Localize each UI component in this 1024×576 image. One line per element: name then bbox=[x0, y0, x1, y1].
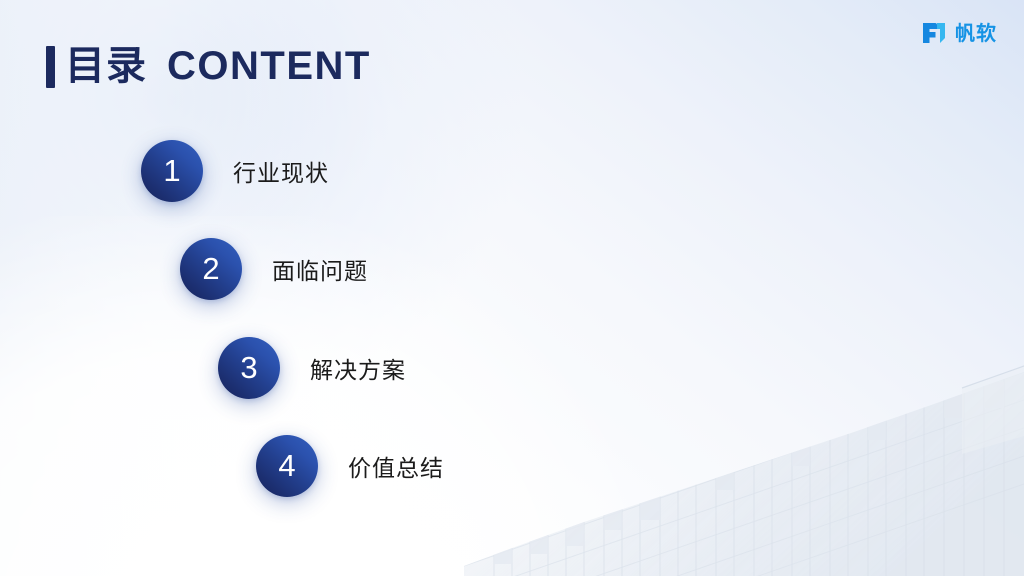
brand-logo: 帆软 bbox=[921, 20, 997, 46]
toc-number-badge: 2 bbox=[180, 238, 242, 300]
toc-number-badge: 1 bbox=[141, 140, 203, 202]
title-english: CONTENT bbox=[167, 46, 371, 86]
slide-canvas: 目录 CONTENT 帆软 1 行业现状 2 面临问题 3 解决方案 4 bbox=[0, 0, 1024, 576]
brand-name: 帆软 bbox=[955, 23, 997, 43]
fanruan-f-logo-icon bbox=[921, 20, 947, 46]
toc-number: 2 bbox=[202, 253, 219, 284]
toc-item-1[interactable]: 1 行业现状 bbox=[141, 140, 329, 202]
toc-item-4[interactable]: 4 价值总结 bbox=[256, 435, 444, 497]
toc-number: 4 bbox=[278, 450, 295, 481]
toc-label: 行业现状 bbox=[233, 154, 329, 188]
title-chinese: 目录 bbox=[65, 46, 147, 86]
toc-label: 面临问题 bbox=[272, 252, 368, 286]
toc-number: 1 bbox=[163, 155, 180, 186]
toc-item-3[interactable]: 3 解决方案 bbox=[218, 337, 406, 399]
toc-number-badge: 3 bbox=[218, 337, 280, 399]
title-accent-bar bbox=[46, 46, 55, 88]
page-title: 目录 CONTENT bbox=[46, 38, 371, 94]
toc-number: 3 bbox=[240, 352, 257, 383]
toc-item-2[interactable]: 2 面临问题 bbox=[180, 238, 368, 300]
toc-number-badge: 4 bbox=[256, 435, 318, 497]
toc-label: 价值总结 bbox=[348, 449, 444, 483]
toc-label: 解决方案 bbox=[310, 351, 406, 385]
